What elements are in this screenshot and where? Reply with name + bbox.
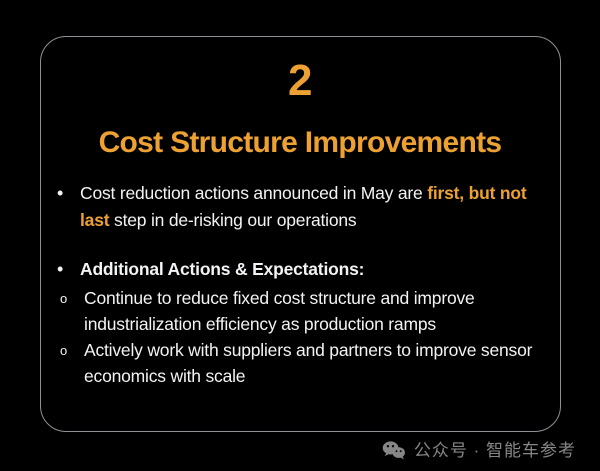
sub-bullet-text-1: Continue to reduce fixed cost structure … <box>84 285 542 337</box>
sub-bullet-marker: o <box>52 337 84 364</box>
watermark: 公众号 · 智能车参考 <box>382 440 576 461</box>
sub-bullet-item-2: o Actively work with suppliers and partn… <box>52 337 542 389</box>
bullet-segment-plain-2: step in de-risking our operations <box>109 210 356 230</box>
sub-bullet-text-2: Actively work with suppliers and partner… <box>84 337 542 389</box>
bullet-marker: • <box>52 256 80 283</box>
slide-canvas: 2 Cost Structure Improvements • Cost red… <box>0 0 600 471</box>
slide-body: • Cost reduction actions announced in Ma… <box>52 180 542 389</box>
bullet-item-2: • Additional Actions & Expectations: <box>52 256 542 283</box>
bullet-text-1: Cost reduction actions announced in May … <box>80 180 542 234</box>
bullet-segment-plain-1: Cost reduction actions announced in May … <box>80 183 427 203</box>
slide-title: Cost Structure Improvements <box>0 126 600 160</box>
bullet-item-1: • Cost reduction actions announced in Ma… <box>52 180 542 234</box>
bullet-heading-additional-actions: Additional Actions & Expectations: <box>80 256 542 283</box>
bullet-marker: • <box>52 180 80 207</box>
sub-bullet-marker: o <box>52 285 84 312</box>
bullet-spacer <box>52 234 542 256</box>
sub-bullet-item-1: o Continue to reduce fixed cost structur… <box>52 285 542 337</box>
slide-number: 2 <box>0 56 600 106</box>
wechat-icon <box>382 440 406 461</box>
sub-bullet-list: o Continue to reduce fixed cost structur… <box>52 285 542 389</box>
watermark-text: 公众号 · 智能车参考 <box>414 441 576 461</box>
